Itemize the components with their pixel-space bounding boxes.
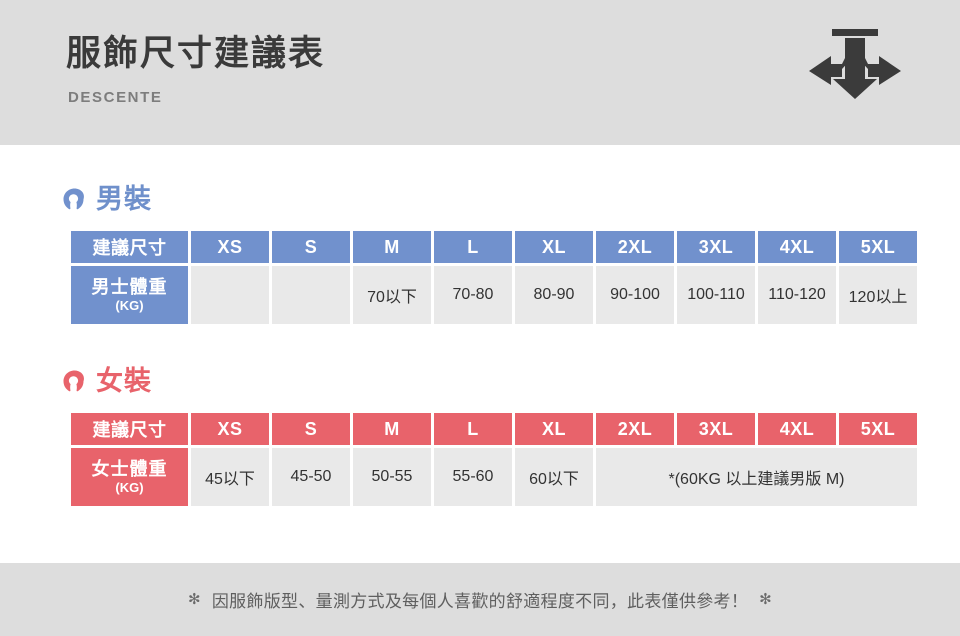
star-icon: ✻ — [759, 592, 772, 607]
person-icon — [62, 369, 87, 394]
women-value-m: 50-55 — [353, 448, 431, 506]
men-header-3xl: 3XL — [677, 231, 755, 263]
men-value-2xl: 90-100 — [596, 266, 674, 324]
footer-note: ✻ 因服飾版型、量測方式及每個人喜歡的舒適程度不同，此表僅供參考！ ✻ — [0, 563, 960, 636]
men-header-5xl: 5XL — [839, 231, 917, 263]
men-table-header-row: 建議尺寸 XS S M L XL 2XL 3XL 4XL 5XL — [71, 231, 917, 263]
men-value-4xl: 110-120 — [758, 266, 836, 324]
women-row-label: 女士體重 (KG) — [71, 448, 188, 506]
women-row-label-unit: (KG) — [71, 480, 188, 495]
women-value-s: 45-50 — [272, 448, 350, 506]
women-header-4xl: 4XL — [758, 413, 836, 445]
women-size-table: 建議尺寸 XS S M L XL 2XL 3XL 4XL 5XL 女士體重 (K… — [68, 410, 920, 509]
section-women-label: 女裝 — [96, 368, 152, 395]
men-header-m: M — [353, 231, 431, 263]
men-weight-row: 男士體重 (KG) 70以下 70-80 80-90 90-100 100-11… — [71, 266, 917, 324]
men-value-xl: 80-90 — [515, 266, 593, 324]
women-header-3xl: 3XL — [677, 413, 755, 445]
footer-band: ✻ 因服飾版型、量測方式及每個人喜歡的舒適程度不同，此表僅供參考！ ✻ — [0, 563, 960, 636]
men-header-l: L — [434, 231, 512, 263]
women-merged-note: *(60KG 以上建議男版 M) — [596, 448, 917, 506]
men-row-label-text: 男士體重 — [92, 277, 168, 297]
men-header-xl: XL — [515, 231, 593, 263]
women-header-xs: XS — [191, 413, 269, 445]
section-women-heading: 女裝 — [62, 362, 152, 400]
women-table-header-row: 建議尺寸 XS S M L XL 2XL 3XL 4XL 5XL — [71, 413, 917, 445]
women-value-xl: 60以下 — [515, 448, 593, 506]
men-header-label: 建議尺寸 — [71, 231, 188, 263]
men-header-4xl: 4XL — [758, 231, 836, 263]
men-size-table: 建議尺寸 XS S M L XL 2XL 3XL 4XL 5XL 男士體重 (K… — [68, 228, 920, 327]
men-row-label-unit: (KG) — [71, 298, 188, 313]
men-row-label: 男士體重 (KG) — [71, 266, 188, 324]
men-header-s: S — [272, 231, 350, 263]
women-header-s: S — [272, 413, 350, 445]
section-men-label: 男裝 — [96, 186, 152, 213]
size-chart-page: 服飾尺寸建議表 DESCENTE — [0, 0, 960, 636]
header-band: 服飾尺寸建議表 DESCENTE — [0, 0, 960, 145]
footer-note-text: 因服飾版型、量測方式及每個人喜歡的舒適程度不同，此表僅供參考！ — [212, 587, 748, 612]
women-value-xs: 45以下 — [191, 448, 269, 506]
men-value-5xl: 120以上 — [839, 266, 917, 324]
person-icon — [62, 187, 87, 212]
women-header-label: 建議尺寸 — [71, 413, 188, 445]
women-header-l: L — [434, 413, 512, 445]
men-value-xs — [191, 266, 269, 324]
women-row-label-text: 女士體重 — [92, 459, 168, 479]
descente-logo-icon — [805, 25, 905, 101]
brand-subtitle: DESCENTE — [68, 90, 162, 105]
women-header-m: M — [353, 413, 431, 445]
page-title: 服飾尺寸建議表 — [66, 36, 325, 71]
women-value-l: 55-60 — [434, 448, 512, 506]
women-header-xl: XL — [515, 413, 593, 445]
men-value-s — [272, 266, 350, 324]
women-weight-row: 女士體重 (KG) 45以下 45-50 50-55 55-60 60以下 *(… — [71, 448, 917, 506]
women-header-5xl: 5XL — [839, 413, 917, 445]
men-value-l: 70-80 — [434, 266, 512, 324]
women-header-2xl: 2XL — [596, 413, 674, 445]
men-value-3xl: 100-110 — [677, 266, 755, 324]
men-value-m: 70以下 — [353, 266, 431, 324]
star-icon: ✻ — [188, 592, 201, 607]
men-header-xs: XS — [191, 231, 269, 263]
men-header-2xl: 2XL — [596, 231, 674, 263]
section-men-heading: 男裝 — [62, 180, 152, 218]
